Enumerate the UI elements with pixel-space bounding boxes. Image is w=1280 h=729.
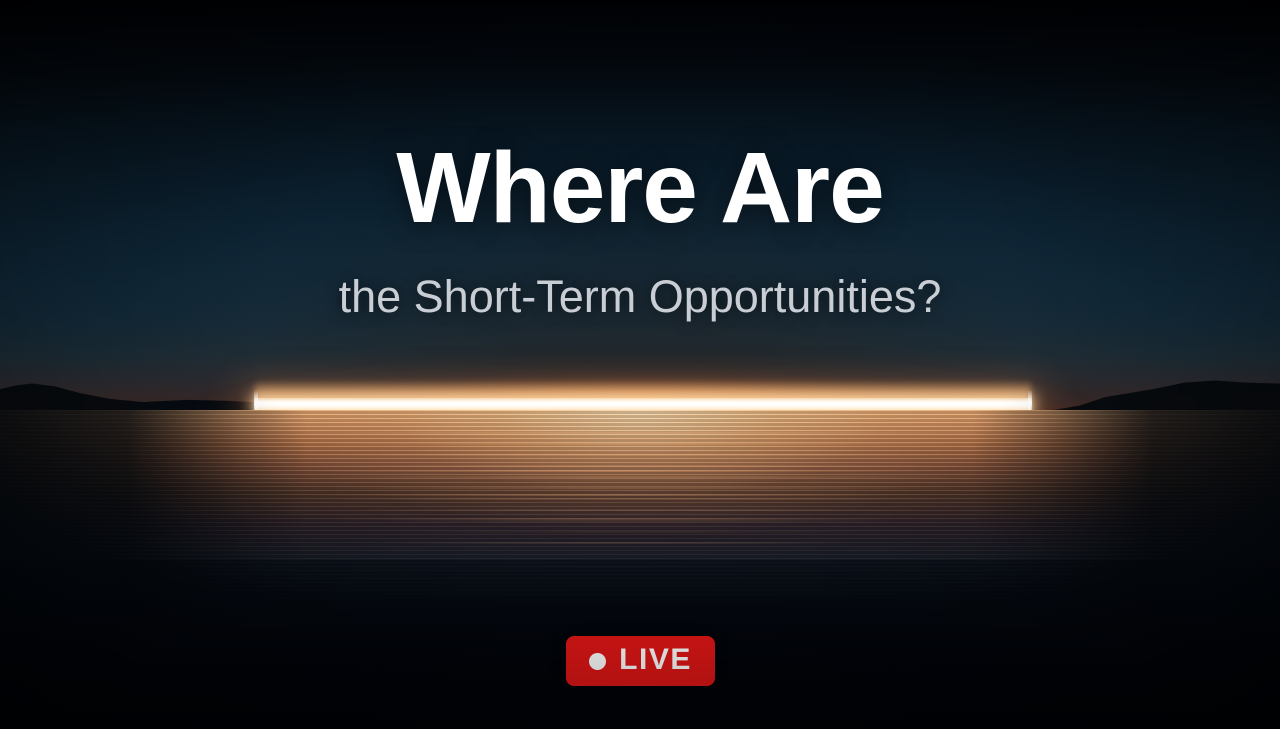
live-dot-icon: [589, 653, 606, 670]
live-status-badge[interactable]: LIVE: [566, 636, 715, 686]
live-badge-label: LIVE: [619, 645, 692, 677]
title-card-stage: Where Are the Short-Term Opportunities? …: [0, 0, 1280, 729]
slide-title: Where Are: [0, 136, 1280, 241]
slide-subtitle: the Short-Term Opportunities?: [0, 272, 1280, 322]
slide-text-block: Where Are the Short-Term Opportunities?: [0, 0, 1280, 729]
